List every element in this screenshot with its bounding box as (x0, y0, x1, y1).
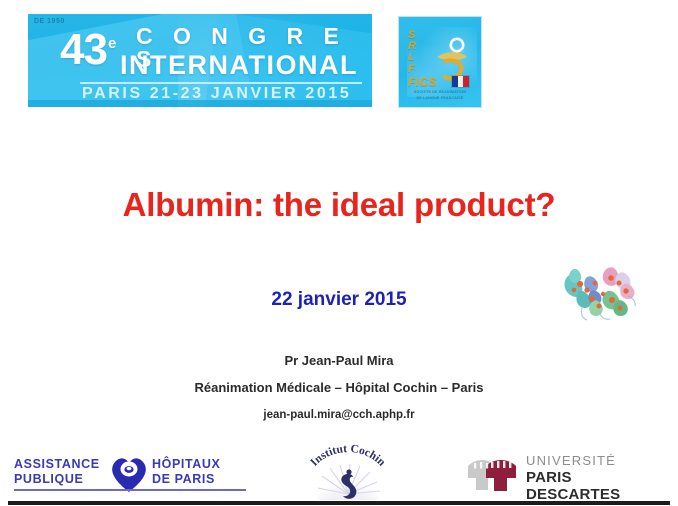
slide-title: Albumin: the ideal product? (0, 186, 678, 224)
banner-corner-tag: DE 1950 (34, 18, 65, 25)
presenter-affiliation: Réanimation Médicale – Hôpital Cochin – … (0, 380, 678, 395)
aphp-hopitaux-line: HÔPITAUX (152, 457, 220, 472)
presenter-email: jean-paul.mira@cch.aphp.fr (0, 409, 678, 421)
presenter-name: Pr Jean-Paul Mira (0, 353, 678, 368)
aphp-assistance-line: ASSISTANCE (14, 457, 100, 472)
srlf-letter-l: L (408, 52, 416, 63)
bottom-bar (8, 501, 670, 505)
srlf-subtitle-line-2: DE LANGUE FRANCAISE (405, 95, 475, 101)
french-flag-icon (451, 75, 470, 88)
aphp-logo: ASSISTANCE PUBLIQUE HÔPITAUX DE PARIS (14, 455, 246, 491)
aphp-right-text: HÔPITAUX DE PARIS (152, 457, 220, 488)
heart-icon (108, 455, 150, 493)
srlf-letter-stack: S R L F (408, 30, 416, 75)
paris-descartes-logo: UNIVERSITÉ PARIS DESCARTES (466, 452, 656, 494)
banner-location-date: PARIS 21-23 JANVIER 2015 (82, 86, 351, 102)
descartes-universite-line: UNIVERSITÉ (526, 454, 656, 469)
cochin-arc-text: Institut Cochin (308, 444, 388, 469)
aphp-publique-line: PUBLIQUE (14, 472, 100, 487)
descartes-text-block: UNIVERSITÉ PARIS DESCARTES (526, 454, 656, 503)
banner-international-word: INTERNATIONAL (120, 52, 358, 79)
banner-edition-number: 43e (60, 28, 115, 72)
descartes-crest-icon (466, 452, 522, 492)
aphp-left-text: ASSISTANCE PUBLIQUE (14, 457, 100, 488)
institut-cochin-logo: Institut Cochin (292, 444, 404, 500)
banner-edition-number-value: 43 (60, 25, 107, 74)
srlf-subtitle: SOCIETE DE REANIMATION DE LANGUE FRANCAI… (405, 89, 475, 101)
srlf-acronym: FICS (408, 75, 437, 89)
banner-edition-superscript: e (108, 35, 115, 52)
presentation-slide: DE 1950 43e C O N G R E S INTERNATIONAL … (0, 0, 678, 506)
congress-banner: DE 1950 43e C O N G R E S INTERNATIONAL … (28, 14, 372, 107)
albumin-structure-image (556, 256, 648, 324)
descartes-paris-line: PARIS DESCARTES (526, 469, 656, 504)
srlf-logo: S R L F FICS SOCIETE DE REANIMATION DE L… (398, 16, 482, 108)
banner-divider-rule (80, 82, 362, 84)
aphp-deparis-line: DE PARIS (152, 472, 220, 487)
aphp-underline (14, 489, 246, 491)
srlf-letter-f: F (408, 64, 416, 75)
flag-red-band (463, 76, 469, 87)
